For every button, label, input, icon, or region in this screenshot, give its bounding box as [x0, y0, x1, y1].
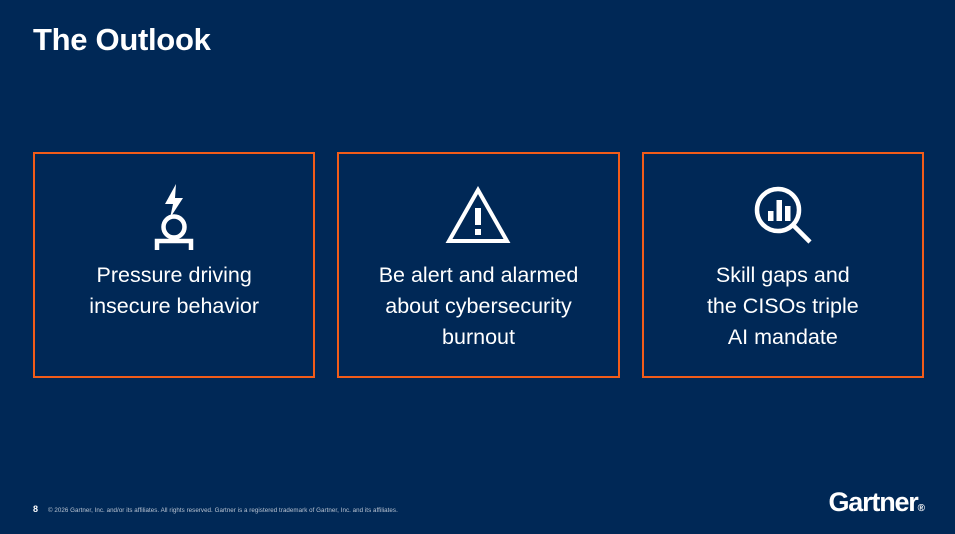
person-lightning-icon [144, 180, 204, 252]
warning-triangle-icon [445, 180, 511, 252]
card-label: Pressure driving insecure behavior [35, 260, 313, 322]
card-label: Skill gaps and the CISOs triple AI manda… [644, 260, 922, 353]
slide-canvas: The Outlook Pressure driving insecure be… [0, 0, 955, 534]
gartner-logo-text: Gartner [828, 487, 917, 517]
page-number: 8 [33, 505, 38, 514]
page-title: The Outlook [33, 22, 211, 58]
card-group: Pressure driving insecure behavior Be al… [33, 152, 924, 378]
card-skill-gaps: Skill gaps and the CISOs triple AI manda… [642, 152, 924, 378]
registered-trademark-icon: ® [918, 503, 925, 514]
gartner-logo: Gartner® [828, 489, 925, 516]
card-label: Be alert and alarmed about cybersecurity… [339, 260, 617, 353]
card-alert-alarmed: Be alert and alarmed about cybersecurity… [337, 152, 619, 378]
magnifier-bar-chart-icon [751, 180, 815, 252]
card-pressure-driving: Pressure driving insecure behavior [33, 152, 315, 378]
copyright-text: © 2026 Gartner, Inc. and/or its affiliat… [48, 508, 398, 514]
slide-footer: 8 © 2026 Gartner, Inc. and/or its affili… [0, 486, 955, 534]
